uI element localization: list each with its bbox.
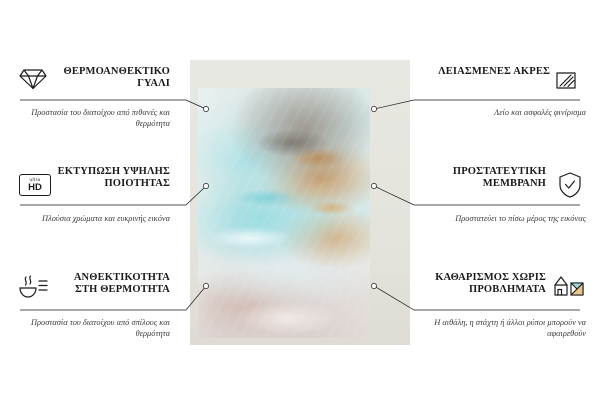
feature-left-2-desc: Πλούσια χρώματα και ευκρινής εικόνα	[14, 213, 170, 224]
feature-right-1-desc: Λείο και ασφαλές φινίρισμα	[430, 107, 586, 118]
feature-right-2-title: ΠΡΟΣΤΑΤΕΥΤΙΚΗ ΜΕΜΒΡΑΝΗ	[430, 166, 586, 191]
connector-dot-left-3	[203, 283, 208, 288]
feature-right-3: ΚΑΘΑΡΙΣΜΟΣ ΧΩΡΙΣ ΠΡΟΒΛΗΜΑΤΑ	[420, 272, 586, 297]
connector-dot-right-1	[371, 106, 376, 111]
feature-right-1-title: ΛΕΙΑΣΜΕΝΕΣ ΑΚΡΕΣ	[430, 66, 586, 78]
feature-left-1-title: ΘΕΡΜΟΑΝΘΕΚΤΙΚΟ ΓΥΑΛΙ	[14, 66, 170, 91]
feature-right-1: ΛΕΙΑΣΜΕΝΕΣ ΑΚΡΕΣ	[430, 66, 586, 78]
feature-left-3-title: ΑΝΘΕΚΤΙΚΟΤΗΤΑ ΣΤΗ ΘΕΡΜΟΤΗΤΑ	[14, 272, 170, 297]
feature-right-3-title: ΚΑΘΑΡΙΣΜΟΣ ΧΩΡΙΣ ΠΡΟΒΛΗΜΑΤΑ	[420, 272, 586, 297]
feature-right-2-desc: Προστατεύει το πίσω μέρος της εικόνας	[430, 213, 586, 224]
connector-dot-left-2	[203, 183, 208, 188]
feature-left-3: ΑΝΘΕΚΤΙΚΟΤΗΤΑ ΣΤΗ ΘΕΡΜΟΤΗΤΑ	[14, 272, 170, 297]
connector-dot-left-1	[203, 106, 208, 111]
feature-right-3-desc: Η αιθάλη, η στάχτη ή άλλοι ρύποι μπορούν…	[430, 317, 586, 339]
feature-left-2: ΕΚΤΥΠΩΣΗ ΥΨΗΛΗΣ ΠΟΙΟΤΗΤΑΣ	[14, 166, 170, 191]
feature-right-1-desc-wrap: Λείο και ασφαλές φινίρισμα	[430, 103, 586, 118]
feature-left-2-desc-wrap: Πλούσια χρώματα και ευκρινής εικόνα	[14, 209, 170, 224]
feature-right-2-desc-wrap: Προστατεύει το πίσω μέρος της εικόνας	[430, 209, 586, 224]
feature-left-2-title: ΕΚΤΥΠΩΣΗ ΥΨΗΛΗΣ ΠΟΙΟΤΗΤΑΣ	[14, 166, 170, 191]
feature-left-3-desc: Προστασία του διατοίχου από σπίλους και …	[14, 317, 170, 339]
connector-dot-right-3	[371, 283, 376, 288]
feature-left-1-desc: Προστασία του διατοίχου από πιθανές και …	[14, 107, 170, 129]
feature-right-3-desc-wrap: Η αιθάλη, η στάχτη ή άλλοι ρύποι μπορούν…	[430, 313, 586, 339]
connector-dot-right-2	[371, 183, 376, 188]
feature-left-1-desc-wrap: Προστασία του διατοίχου από πιθανές και …	[14, 103, 170, 129]
feature-left-3-desc-wrap: Προστασία του διατοίχου από σπίλους και …	[14, 313, 170, 339]
feature-left-1: ΘΕΡΜΟΑΝΘΕΚΤΙΚΟ ΓΥΑΛΙ	[14, 66, 170, 91]
feature-right-2: ΠΡΟΣΤΑΤΕΥΤΙΚΗ ΜΕΜΒΡΑΝΗ	[430, 166, 586, 191]
infographic-root: ΘΕΡΜΟΑΝΘΕΚΤΙΚΟ ΓΥΑΛΙ Προστασία του διατο…	[0, 0, 600, 400]
connector-lines	[0, 0, 600, 400]
